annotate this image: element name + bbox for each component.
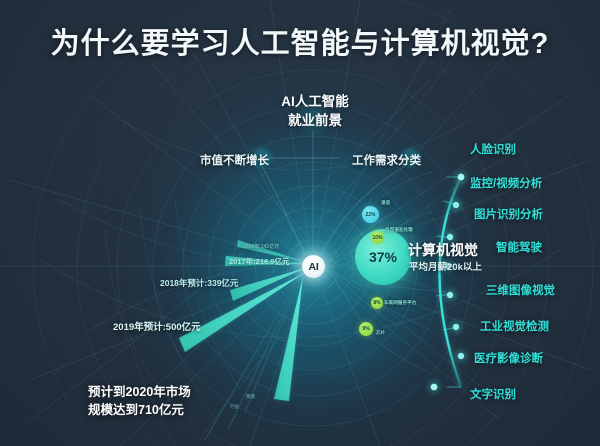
cv-item-3d-vision[interactable]: 三维图像视觉 — [486, 282, 555, 298]
cv-item-medical-imaging[interactable]: 医疗影像诊断 — [474, 350, 543, 366]
market-note-2019: 2019年预计:500亿元 — [113, 319, 201, 333]
branch-label-jobs[interactable]: 工作需求分类 — [352, 152, 421, 168]
background-graphics — [0, 0, 600, 446]
branch-label-market[interactable]: 市值不断增长 — [200, 152, 269, 168]
market-note-2018: 2018年预计:339亿元 — [160, 277, 238, 289]
ghost-text-industry: 行业 — [230, 404, 239, 410]
ghost-text-forecast: 预测 — [246, 394, 255, 400]
micro-node-iov-percent[interactable]: 8% — [371, 297, 383, 309]
cv-item-ocr[interactable]: 文字识别 — [470, 386, 516, 402]
micro-node-nlp-label: 自然语言处理 — [385, 227, 413, 233]
hub-title-line2: 就业前景 — [215, 111, 415, 130]
market-forecast-line1: 预计到2020年市场 — [88, 383, 191, 401]
micro-node-nlp-percent[interactable]: 10% — [371, 231, 384, 244]
micro-node-speech-percent[interactable]: 22% — [362, 206, 379, 223]
market-note-2017: 2017年:216.9亿元 — [229, 256, 289, 267]
hub-title: AI人工智能 就业前景 — [215, 92, 415, 130]
micro-node-chip-percent[interactable]: 9% — [359, 322, 373, 336]
micro-node-chip-label: 芯片 — [376, 330, 385, 336]
hub-node-ai[interactable]: AI — [302, 255, 325, 278]
market-note-2016: 2016年:141亿元 — [243, 243, 279, 250]
cv-item-industrial-inspection[interactable]: 工业视觉检测 — [480, 318, 549, 334]
cv-item-face-recognition[interactable]: 人脸识别 — [470, 141, 516, 157]
cv-item-video-surveillance[interactable]: 监控/视频分析 — [470, 175, 542, 191]
cv-item-autonomous-driving[interactable]: 智能驾驶 — [496, 239, 542, 255]
micro-node-iov-label: 车联网服务平台 — [384, 300, 416, 306]
cv-subtitle: 平均月薪20k以上 — [409, 259, 482, 273]
cv-item-image-recognition[interactable]: 图片识别分析 — [474, 206, 543, 222]
infographic-canvas: 为什么要学习人工智能与计算机视觉? AI人工智能 就业前景 市值不断增长 工作需… — [0, 0, 600, 446]
cv-title: 计算机视觉 — [408, 240, 478, 260]
market-forecast-line2: 规模达到710亿元 — [88, 401, 191, 419]
micro-node-speech-label: 语音 — [381, 200, 390, 206]
hub-title-line1: AI人工智能 — [215, 92, 415, 111]
market-forecast-2020: 预计到2020年市场 规模达到710亿元 — [88, 383, 191, 419]
page-title: 为什么要学习人工智能与计算机视觉? — [0, 20, 600, 62]
